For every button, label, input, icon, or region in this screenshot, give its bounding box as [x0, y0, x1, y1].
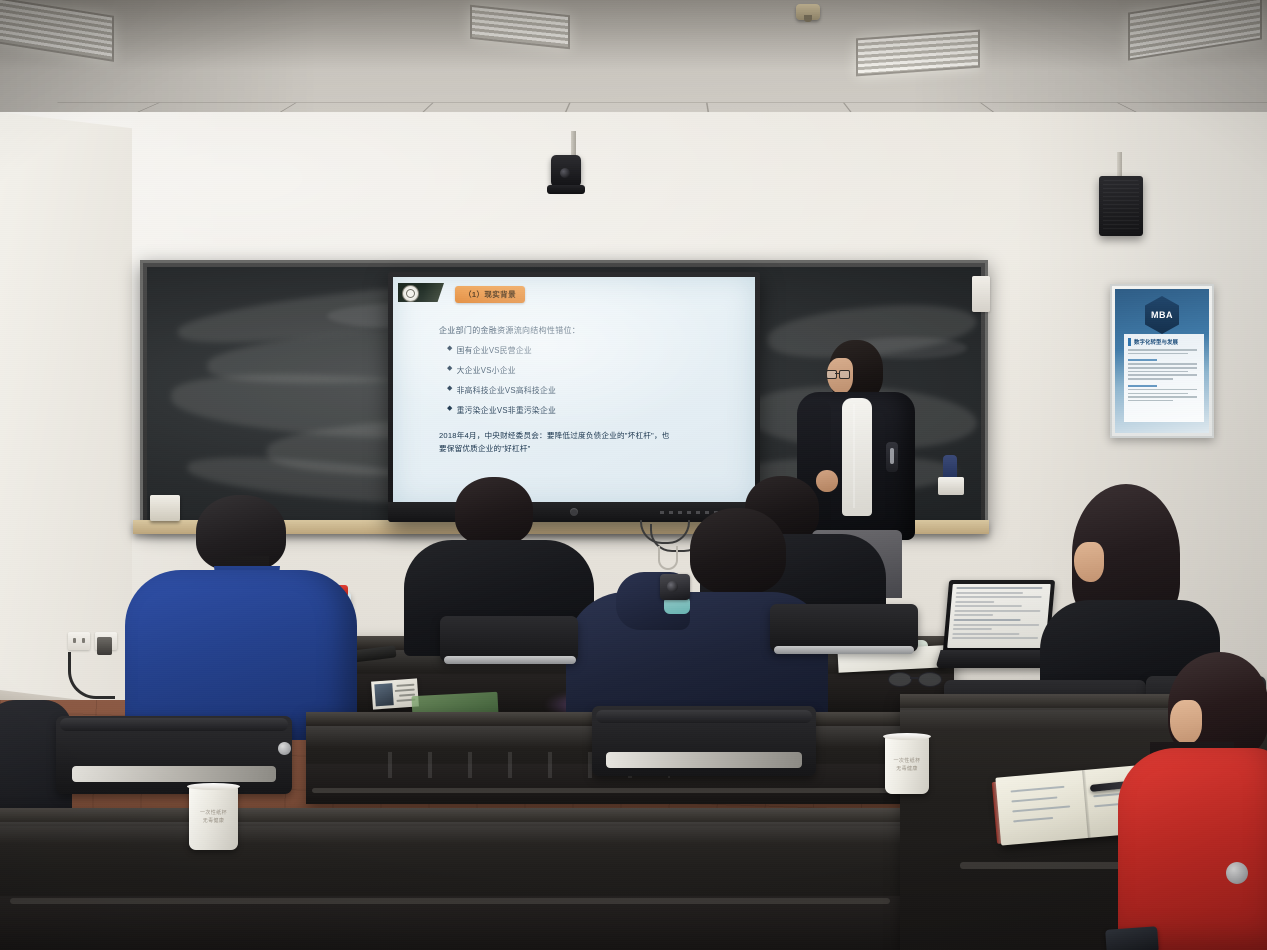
slide-bullet-item: ◆ 非高科技企业VS高科技企业 [447, 385, 735, 396]
classroom-photo: （1）现实背景 企业部门的金融资源流向结构性错位： ◆ 国有企业VS民营企业 ◆… [0, 0, 1267, 950]
slide-section-badge: （1）现实背景 [455, 286, 525, 303]
presenter-jacket-zip [853, 404, 855, 508]
slide-bullet-label: 大企业VS小企业 [457, 365, 516, 376]
slide-note: 2018年4月，中央财经委员会：要降低过度负债企业的"坏杠杆"，也 要保留优质企… [439, 429, 733, 456]
laptop-display-content [947, 584, 1051, 648]
ceiling [0, 0, 1267, 128]
desk-rail [10, 898, 890, 904]
marker-holder [938, 455, 964, 495]
presenter-hand [816, 470, 838, 492]
bullet-diamond-icon: ◆ [447, 365, 453, 374]
cup-text: 一次性纸杯 无毒健康 [189, 810, 238, 825]
scene-caption: Classroom lecture — seminar room with pr… [0, 945, 1267, 950]
desk-row-front [0, 808, 910, 950]
attendee-face [1074, 542, 1104, 582]
slide-note-line: 2018年4月，中央财经委员会：要降低过度负债企业的"坏杠杆"，也 [439, 429, 733, 442]
paper-cup: 一次性纸杯 无毒健康 [189, 786, 238, 850]
camera-lens-icon [560, 168, 570, 178]
attendee-head [455, 477, 533, 545]
wall-outlet-icon[interactable] [68, 632, 90, 650]
wall-control-plate[interactable] [972, 276, 990, 312]
poster-content: 数字化转型与发展 [1124, 334, 1204, 422]
cup-text: 一次性纸杯 无毒健康 [885, 758, 929, 773]
wall-poster: MBA 数字化转型与发展 [1110, 284, 1214, 438]
slide-lead-text: 企业部门的金融资源流向结构性错位： [439, 325, 735, 336]
laptop-screen[interactable] [943, 580, 1055, 652]
paper-cup: 一次性纸杯 无毒健康 [885, 736, 929, 794]
cable-hook-icon [658, 546, 678, 570]
display-power-indicator-icon [570, 508, 578, 516]
blackboard-eraser-icon [150, 495, 180, 521]
slide-bullet-label: 非高科技企业VS高科技企业 [457, 385, 556, 396]
slide-bullet-item: ◆ 大企业VS小企业 [447, 365, 735, 376]
wall-speaker-icon [1099, 176, 1143, 236]
desk-rail [312, 788, 952, 793]
university-seal-icon [402, 285, 419, 302]
eyeglasses-icon [888, 672, 946, 686]
slide-bullet-item: ◆ 国有企业VS民营企业 [447, 345, 735, 356]
bullet-diamond-icon: ◆ [447, 405, 453, 414]
camera-base [547, 185, 585, 194]
attendee-face [1170, 700, 1202, 744]
presenter-shirt [842, 398, 872, 516]
fire-sprinkler-icon [796, 4, 820, 20]
camera-mount-pole [571, 131, 576, 157]
slide-body: 企业部门的金融资源流向结构性错位： ◆ 国有企业VS民营企业 ◆ 大企业VS小企… [439, 325, 735, 425]
slide-bullet-item: ◆ 重污染企业VS非重污染企业 [447, 405, 735, 416]
speaker-mount [1117, 152, 1122, 178]
marker-box [938, 477, 964, 495]
attendee-head [690, 508, 786, 594]
smartphone-icon[interactable] [660, 574, 690, 600]
bullet-diamond-icon: ◆ [447, 345, 453, 354]
presenter-glasses-icon [826, 370, 850, 378]
slide-note-line: 要保留优质企业的"好杠杆" [439, 442, 733, 455]
poster-title: 数字化转型与发展 [1128, 338, 1200, 346]
poster-logo-label: MBA [1151, 310, 1173, 320]
presenter-sleeve-badge [886, 442, 898, 472]
bullet-diamond-icon: ◆ [447, 385, 453, 394]
attendee-red-jacket [1118, 748, 1267, 950]
presentation-screen[interactable]: （1）现实背景 企业部门的金融资源流向结构性错位： ◆ 国有企业VS民营企业 ◆… [393, 277, 755, 505]
slide-bullet-label: 国有企业VS民营企业 [457, 345, 532, 356]
slide-bullet-label: 重污染企业VS非重污染企业 [457, 405, 556, 416]
